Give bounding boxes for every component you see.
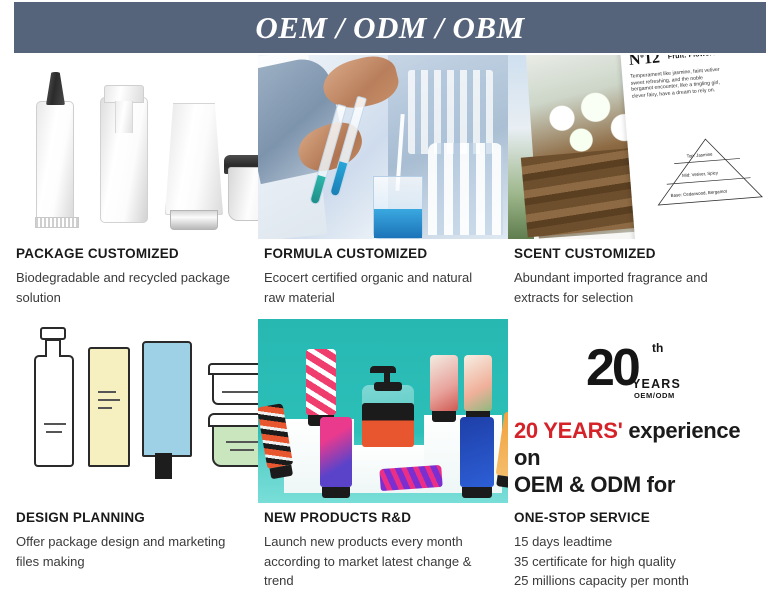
one-stop-service-caption: ONE-STOP SERVICE 15 days leadtime 35 cer… xyxy=(508,503,776,591)
sketch-label-line xyxy=(44,423,66,425)
page-header-banner: OEM / ODM / OBM xyxy=(14,2,766,53)
scent-customized-image: No12 Fruit. Flowers Temperament like jas… xyxy=(508,55,776,239)
page-title: OEM / ODM / OBM xyxy=(255,10,524,46)
card-title: ONE-STOP SERVICE xyxy=(514,509,760,527)
white-jar-sketch-icon xyxy=(212,371,258,405)
formula-customized-caption: FORMULA CUSTOMIZED Ecocert certified org… xyxy=(258,239,508,307)
product-tube-navy xyxy=(460,417,494,487)
fragrance-notes: Fruit. Flowers xyxy=(668,55,717,61)
black-cap-tube-icon xyxy=(36,101,74,221)
card-body-line: Biodegradable and recycled package xyxy=(16,268,242,288)
feature-grid: PACKAGE CUSTOMIZED Biodegradable and rec… xyxy=(0,55,782,591)
card-body-line: Ecocert certified organic and natural xyxy=(264,268,492,288)
sketch-label-line xyxy=(46,431,62,433)
card-body: Biodegradable and recycled package solut… xyxy=(16,268,242,307)
hand-wash-bottle-label xyxy=(362,403,414,447)
card-body-line: 25 millions capacity per month xyxy=(514,571,760,591)
design-planning-caption: DESIGN PLANNING Offer package design and… xyxy=(0,503,258,571)
fragrance-description-text: Temperament like jasmine, faint vetiver … xyxy=(630,67,724,101)
one-stop-service-image: 20 th YEARS OEM/ODM 20 YEARS' experience… xyxy=(508,319,776,503)
spray-nozzle-sketch-icon xyxy=(40,327,66,340)
pump-neck-icon xyxy=(115,101,133,133)
feature-row-2: DESIGN PLANNING Offer package design and… xyxy=(0,319,782,591)
card-title: SCENT CUSTOMIZED xyxy=(514,245,760,263)
squeeze-tube-icon xyxy=(165,103,223,215)
page-root: OEM / ODM / OBM xyxy=(0,0,782,605)
new-products-rd-caption: NEW PRODUCTS R&D Launch new products eve… xyxy=(258,503,508,591)
card-body-line: Launch new products every month xyxy=(264,532,492,552)
sketch-label-line xyxy=(98,391,116,393)
bottle-pump-arm-icon xyxy=(370,366,396,373)
formula-customized-image xyxy=(258,55,508,239)
cream-jar-icon xyxy=(228,167,258,221)
card-formula-customized: FORMULA CUSTOMIZED Ecocert certified org… xyxy=(258,55,508,307)
card-title: FORMULA CUSTOMIZED xyxy=(264,245,492,263)
card-body-line: raw material xyxy=(264,288,492,308)
fragrance-number-value: 12 xyxy=(643,55,660,68)
product-tube-striped-pink xyxy=(306,349,336,415)
laboratory-scene-illustration xyxy=(258,55,508,239)
design-planning-image xyxy=(0,319,258,503)
blue-tube-cap-sketch-icon xyxy=(155,453,172,479)
card-scent-customized: No12 Fruit. Flowers Temperament like jas… xyxy=(508,55,776,307)
sketch-label-line xyxy=(230,449,254,451)
anniversary-graphic: 20 th YEARS OEM/ODM 20 YEARS' experience… xyxy=(508,319,776,503)
product-tube-peach xyxy=(464,355,492,411)
product-tube-coral xyxy=(430,355,458,411)
fragrance-number: No12 xyxy=(628,55,660,69)
package-customized-image xyxy=(0,55,258,239)
bottle-pump-stem-icon xyxy=(384,371,390,385)
card-body-line: 15 days leadtime xyxy=(514,532,760,552)
card-body-line: Offer package design and marketing xyxy=(16,532,242,552)
card-new-products-rd: NEW PRODUCTS R&D Launch new products eve… xyxy=(258,319,508,591)
anniversary-sub-label: OEM/ODM xyxy=(634,391,675,400)
anniversary-years-label: YEARS xyxy=(632,377,681,391)
card-design-planning: DESIGN PLANNING Offer package design and… xyxy=(0,319,258,591)
packaging-sketch-illustration xyxy=(0,319,258,503)
sketch-label-line xyxy=(98,407,112,409)
blue-tube-sketch-icon xyxy=(142,341,192,457)
package-customized-caption: PACKAGE CUSTOMIZED Biodegradable and rec… xyxy=(0,239,258,307)
tagline-line-1: 20 YEARS' experience on xyxy=(514,417,764,471)
tagline-line-2: OEM & ODM for cosmetics xyxy=(514,471,764,503)
anniversary-logo: 20 th YEARS OEM/ODM xyxy=(586,343,698,405)
sketch-label-line xyxy=(226,441,258,443)
anniversary-superscript: th xyxy=(652,341,663,355)
card-body: Ecocert certified organic and natural ra… xyxy=(264,268,492,307)
card-title: PACKAGE CUSTOMIZED xyxy=(16,245,242,263)
card-body: Offer package design and marketing files… xyxy=(16,532,242,571)
fragrance-scene-illustration: No12 Fruit. Flowers Temperament like jas… xyxy=(508,55,776,239)
lab-shelf xyxy=(408,70,493,155)
card-body-line: Abundant imported fragrance and xyxy=(514,268,760,288)
card-body: 15 days leadtime 35 certificate for high… xyxy=(514,532,760,591)
card-body-line: solution xyxy=(16,288,242,308)
product-tube-striped-purple xyxy=(379,465,442,491)
fragrance-number-prefix: N xyxy=(628,55,641,69)
tagline-highlight: 20 YEARS' xyxy=(514,418,623,443)
card-body-line: extracts for selection xyxy=(514,288,760,308)
fragrance-description-card: No12 Fruit. Flowers Temperament like jas… xyxy=(620,55,776,239)
card-package-customized: PACKAGE CUSTOMIZED Biodegradable and rec… xyxy=(0,55,258,307)
card-body-line: 35 certificate for high quality xyxy=(514,552,760,572)
fragrance-pyramid: Top: Jasmine Mid: Vetiver, Spicy Base: C… xyxy=(651,133,764,207)
fragrance-card-footer: Fragrance Description xyxy=(643,237,722,239)
spray-neck-sketch-icon xyxy=(45,339,61,357)
colorful-products-illustration xyxy=(258,319,508,503)
feature-row-1: PACKAGE CUSTOMIZED Biodegradable and rec… xyxy=(0,55,782,307)
green-jar-lid-sketch-icon xyxy=(208,413,258,427)
card-body: Launch new products every month accordin… xyxy=(264,532,492,591)
spray-bottle-sketch-icon xyxy=(34,355,74,467)
new-products-rd-image xyxy=(258,319,508,503)
card-title: DESIGN PLANNING xyxy=(16,509,242,527)
cosmetic-containers-illustration xyxy=(0,55,258,239)
product-tube-pink-purple xyxy=(320,417,352,487)
card-body-line: trend xyxy=(264,571,492,591)
sketch-label-line xyxy=(222,391,258,393)
sketch-label-line xyxy=(98,399,120,401)
squeeze-tube-cap-icon xyxy=(170,210,218,230)
anniversary-tagline: 20 YEARS' experience on OEM & ODM for co… xyxy=(514,417,764,503)
fragrance-card-header: No12 Fruit. Flowers xyxy=(628,55,774,69)
card-one-stop-service: 20 th YEARS OEM/ODM 20 YEARS' experience… xyxy=(508,319,776,591)
scent-customized-caption: SCENT CUSTOMIZED Abundant imported fragr… xyxy=(508,239,776,307)
glassware-rack xyxy=(428,143,503,235)
product-tube-patterned xyxy=(258,403,293,469)
card-body-line: according to market latest change & xyxy=(264,552,492,572)
card-body-line: files making xyxy=(16,552,242,572)
card-title: NEW PRODUCTS R&D xyxy=(264,509,492,527)
card-body: Abundant imported fragrance and extracts… xyxy=(514,268,760,307)
white-jar-lid-sketch-icon xyxy=(208,363,258,375)
beaker-icon xyxy=(373,176,423,239)
green-jar-sketch-icon xyxy=(212,423,258,467)
